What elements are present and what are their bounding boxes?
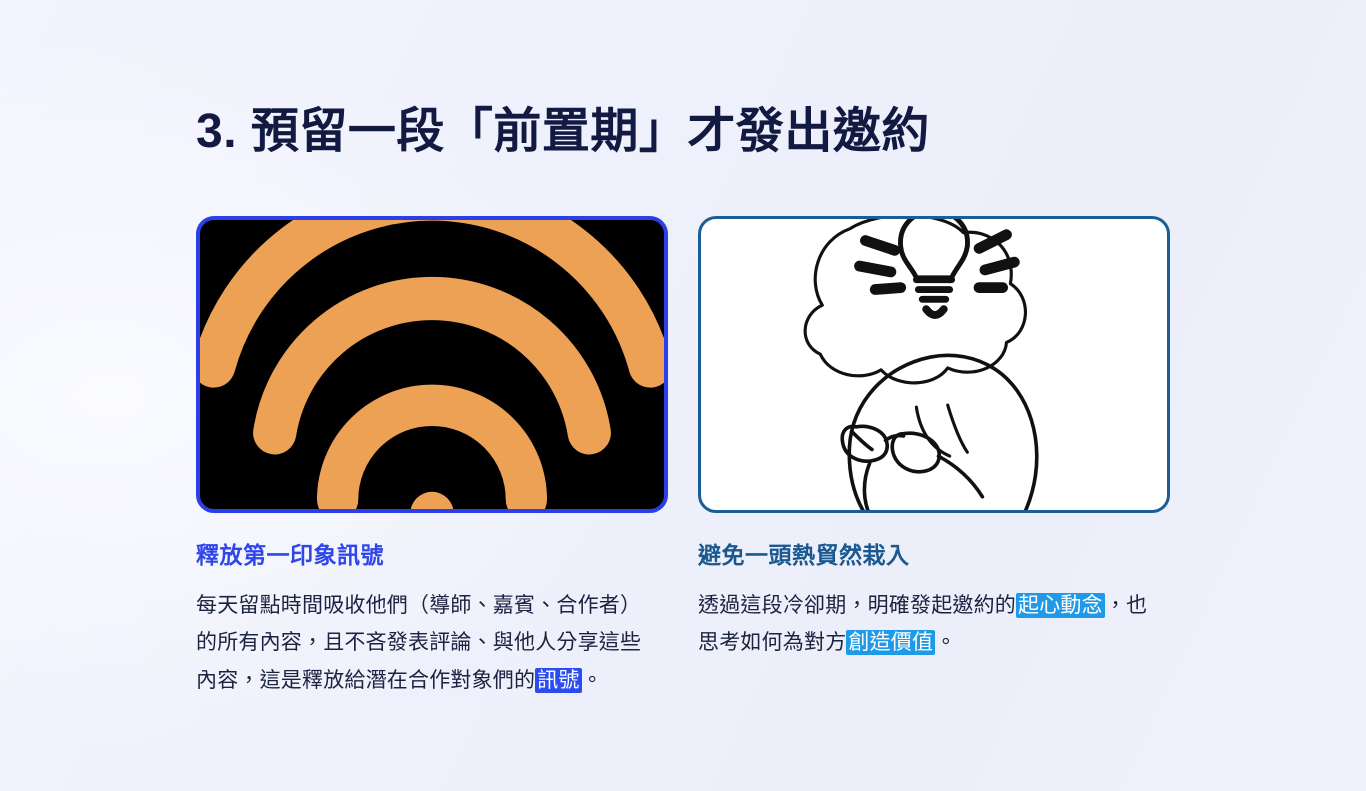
- caption-title-right: 避免一頭熱貿然栽入: [698, 541, 1170, 571]
- content-columns: 釋放第一印象訊號 每天留點時間吸收他們（導師、嘉賓、合作者） 的所有內容，且不吝…: [196, 216, 1170, 699]
- body-line: 內容，這是釋放給潛在合作對象們的訊號。: [196, 662, 668, 699]
- column-left: 釋放第一印象訊號 每天留點時間吸收他們（導師、嘉賓、合作者） 的所有內容，且不吝…: [196, 216, 668, 699]
- caption-title-left: 釋放第一印象訊號: [196, 541, 668, 571]
- caption-body-left: 每天留點時間吸收他們（導師、嘉賓、合作者） 的所有內容，且不吝發表評論、與他人分…: [196, 587, 668, 699]
- highlight-term: 創造價值: [846, 630, 935, 655]
- card-wifi-signal: [196, 216, 668, 513]
- body-line: 每天留點時間吸收他們（導師、嘉賓、合作者）: [196, 587, 668, 624]
- wifi-dot-icon: [410, 492, 453, 509]
- body-line: 思考如何為對方創造價值。: [698, 624, 1170, 661]
- highlight-term: 起心動念: [1016, 593, 1105, 618]
- page-title: 3. 預留一段「前置期」才發出邀約: [196, 104, 930, 161]
- body-line: 的所有內容，且不吝發表評論、與他人分享這些: [196, 624, 668, 661]
- caption-body-right: 透過這段冷卻期，明確發起邀約的起心動念，也 思考如何為對方創造價值。: [698, 587, 1170, 662]
- thought-bubble-doodle-icon: [701, 219, 1167, 510]
- slide-canvas: 3. 預留一段「前置期」才發出邀約 釋放第一印象訊號 每天留點時間吸收他們（導師…: [0, 0, 1366, 791]
- column-right: 避免一頭熱貿然栽入 透過這段冷卻期，明確發起邀約的起心動念，也 思考如何為對方創…: [698, 216, 1170, 699]
- highlight-term: 訊號: [535, 668, 581, 693]
- body-line: 透過這段冷卻期，明確發起邀約的起心動念，也: [698, 587, 1170, 624]
- wifi-signal-icon: [200, 220, 664, 509]
- card-thinking-doodle: [698, 216, 1170, 513]
